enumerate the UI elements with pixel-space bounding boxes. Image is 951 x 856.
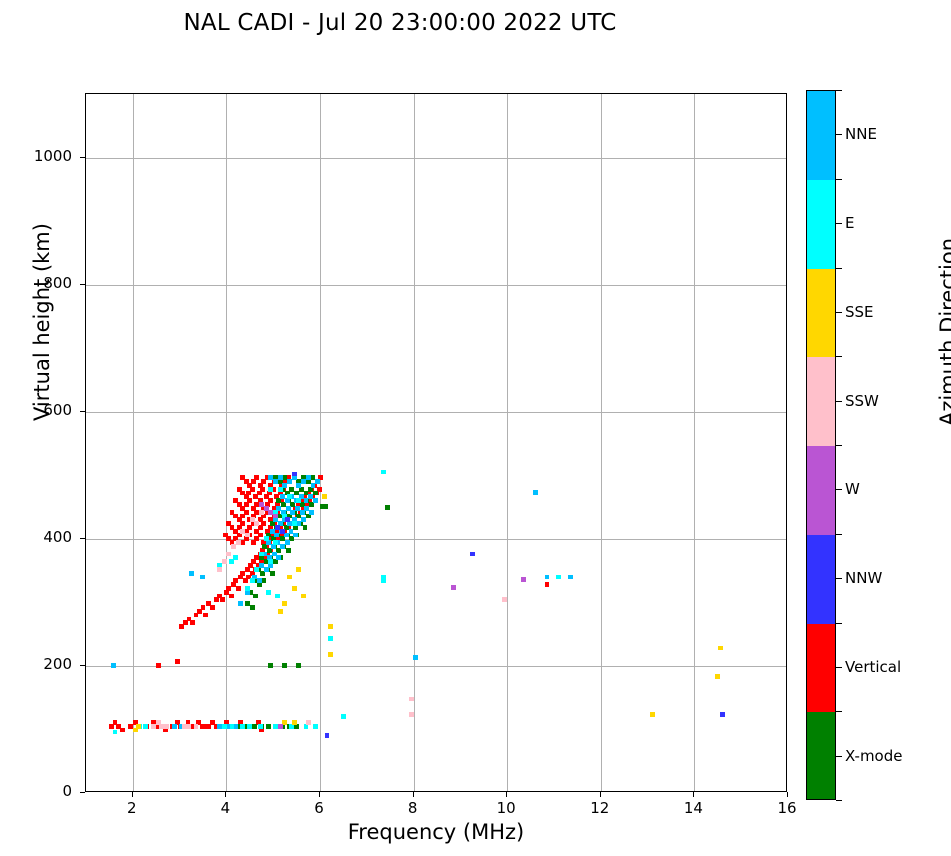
echo-mark xyxy=(278,724,283,729)
gridline-vertical xyxy=(507,94,508,791)
y-tick xyxy=(80,157,85,158)
echo-mark xyxy=(247,498,252,503)
echo-mark xyxy=(266,590,271,595)
echo-mark xyxy=(136,724,141,729)
echo-mark xyxy=(264,536,269,541)
echo-mark xyxy=(409,712,414,717)
echo-mark xyxy=(313,498,318,503)
echo-mark xyxy=(250,487,255,492)
echo-mark xyxy=(285,540,290,545)
echo-mark xyxy=(244,510,249,515)
echo-mark xyxy=(194,724,199,729)
gridline-horizontal xyxy=(86,539,786,540)
colorbar-boundary-tick xyxy=(836,179,842,180)
echo-mark xyxy=(247,724,252,729)
plot-area xyxy=(85,93,787,792)
echo-mark xyxy=(325,733,330,738)
echo-mark xyxy=(303,525,308,530)
x-tick xyxy=(413,792,414,797)
echo-mark xyxy=(278,487,283,492)
echo-mark xyxy=(309,510,314,515)
echo-mark xyxy=(245,586,250,591)
azimuth-colorbar xyxy=(806,90,836,800)
colorbar-segment-w xyxy=(807,446,835,535)
colorbar-label-x-mode: X-mode xyxy=(845,747,902,765)
echo-mark xyxy=(200,575,205,580)
echo-mark xyxy=(245,533,250,538)
echo-mark xyxy=(306,720,311,725)
colorbar-segment-sse xyxy=(807,269,835,358)
colorbar-boundary-tick xyxy=(836,356,842,357)
echo-mark xyxy=(254,475,259,480)
echo-mark xyxy=(280,529,285,534)
y-tick xyxy=(80,665,85,666)
echo-mark xyxy=(306,475,311,480)
echo-mark xyxy=(240,724,245,729)
echo-mark xyxy=(189,571,194,576)
colorbar-segment-x-mode xyxy=(807,712,835,800)
gridline-horizontal xyxy=(86,158,786,159)
echo-mark xyxy=(293,533,298,538)
colorbar-label-nnw: NNW xyxy=(845,569,882,587)
echo-mark xyxy=(172,724,177,729)
y-tick xyxy=(80,284,85,285)
echo-mark xyxy=(409,697,414,702)
colorbar-axis-label: Azimuth Direction xyxy=(936,212,951,452)
x-tick-label: 6 xyxy=(299,799,339,817)
colorbar-tick xyxy=(836,578,842,579)
x-tick-label: 16 xyxy=(767,799,807,817)
colorbar-boundary-tick xyxy=(836,445,842,446)
echo-mark xyxy=(250,578,255,583)
echo-mark xyxy=(282,601,287,606)
x-axis-label: Frequency (MHz) xyxy=(85,820,787,844)
gridline-vertical xyxy=(414,94,415,791)
colorbar-tick xyxy=(836,401,842,402)
echo-mark xyxy=(381,578,386,583)
x-tick xyxy=(132,792,133,797)
gridline-horizontal xyxy=(86,412,786,413)
x-tick xyxy=(600,792,601,797)
gridline-vertical xyxy=(601,94,602,791)
colorbar-boundary-tick xyxy=(836,711,842,712)
echo-mark xyxy=(273,514,278,519)
colorbar-boundary-tick xyxy=(836,534,842,535)
echo-mark xyxy=(229,594,234,599)
y-tick-label: 0 xyxy=(0,782,72,800)
echo-mark xyxy=(385,505,390,510)
echo-mark xyxy=(287,494,292,499)
echo-mark xyxy=(268,559,273,564)
ionogram-figure: NAL CADI - Jul 20 23:00:00 2022 UTC 2468… xyxy=(0,0,951,856)
colorbar-label-nne: NNE xyxy=(845,125,877,143)
echo-mark xyxy=(217,567,222,572)
echo-mark xyxy=(718,646,723,651)
gridline-vertical xyxy=(133,94,134,791)
x-tick xyxy=(319,792,320,797)
echo-mark xyxy=(240,521,245,526)
echo-mark xyxy=(545,582,550,587)
echo-mark xyxy=(120,728,125,733)
y-tick xyxy=(80,792,85,793)
echo-mark xyxy=(230,724,235,729)
echo-mark xyxy=(650,712,655,717)
colorbar-label-sse: SSE xyxy=(845,303,874,321)
colorbar-segment-e xyxy=(807,180,835,269)
echo-mark xyxy=(568,575,573,580)
echo-mark xyxy=(231,544,236,549)
gridline-horizontal xyxy=(86,285,786,286)
echo-mark xyxy=(322,494,327,499)
echo-mark xyxy=(328,636,333,641)
echo-mark xyxy=(253,594,258,599)
echo-mark xyxy=(282,720,287,725)
colorbar-label-vertical: Vertical xyxy=(845,658,901,676)
echo-mark xyxy=(222,724,227,729)
echo-mark xyxy=(226,552,231,557)
echo-mark xyxy=(164,724,169,729)
x-tick-label: 8 xyxy=(393,799,433,817)
echo-mark xyxy=(222,559,227,564)
gridline-vertical xyxy=(226,94,227,791)
echo-mark xyxy=(296,567,301,572)
page-title: NAL CADI - Jul 20 23:00:00 2022 UTC xyxy=(0,10,800,36)
x-tick-label: 10 xyxy=(486,799,526,817)
colorbar-tick xyxy=(836,667,842,668)
y-tick xyxy=(80,538,85,539)
echo-mark xyxy=(113,730,118,735)
echo-mark xyxy=(203,613,208,618)
echo-mark xyxy=(261,578,266,583)
echo-mark xyxy=(278,609,283,614)
gridline-vertical xyxy=(320,94,321,791)
echo-mark xyxy=(261,521,266,526)
echo-mark xyxy=(296,663,301,668)
echo-mark xyxy=(260,487,265,492)
x-tick-label: 4 xyxy=(205,799,245,817)
echo-mark xyxy=(451,585,456,590)
echo-mark xyxy=(556,575,561,580)
echo-mark xyxy=(250,605,255,610)
echo-mark xyxy=(282,663,287,668)
echo-mark xyxy=(270,571,275,576)
echo-mark xyxy=(286,548,291,553)
x-tick xyxy=(787,792,788,797)
colorbar-segment-nnw xyxy=(807,535,835,624)
echo-mark xyxy=(201,605,206,610)
echo-mark xyxy=(470,552,475,557)
colorbar-tick xyxy=(836,756,842,757)
echo-mark xyxy=(285,517,290,522)
echo-mark xyxy=(268,663,273,668)
echo-mark xyxy=(323,504,328,509)
echo-mark xyxy=(275,594,280,599)
echo-mark xyxy=(273,540,278,545)
echo-mark xyxy=(254,567,259,572)
gridline-horizontal xyxy=(86,666,786,667)
echo-mark xyxy=(276,555,281,560)
colorbar-tick xyxy=(836,134,842,135)
echo-mark xyxy=(413,655,418,660)
echo-mark xyxy=(715,674,720,679)
echo-mark xyxy=(292,521,297,526)
echo-mark xyxy=(313,724,318,729)
colorbar-label-e: E xyxy=(845,214,854,232)
x-tick-label: 2 xyxy=(112,799,152,817)
colorbar-segment-ssw xyxy=(807,357,835,446)
echo-mark xyxy=(292,720,297,725)
echo-mark xyxy=(156,663,161,668)
echo-mark xyxy=(533,490,538,495)
echo-mark xyxy=(236,586,241,591)
y-tick xyxy=(80,411,85,412)
echo-mark xyxy=(258,724,263,729)
colorbar-boundary-tick xyxy=(836,90,842,91)
y-axis-label: Virtual height (km) xyxy=(30,182,54,462)
echo-mark xyxy=(259,552,264,557)
x-tick xyxy=(506,792,507,797)
y-tick-label: 400 xyxy=(0,528,72,546)
echo-mark xyxy=(210,605,215,610)
echo-mark xyxy=(233,555,238,560)
echo-mark xyxy=(502,597,507,602)
x-tick-label: 12 xyxy=(580,799,620,817)
echo-mark xyxy=(175,659,180,664)
colorbar-segment-nne xyxy=(807,91,835,180)
colorbar-label-ssw: SSW xyxy=(845,392,879,410)
echo-mark xyxy=(143,724,148,729)
echo-mark xyxy=(720,712,725,717)
echo-mark xyxy=(287,575,292,580)
colorbar-boundary-tick xyxy=(836,623,842,624)
colorbar-label-w: W xyxy=(845,480,860,498)
x-tick xyxy=(225,792,226,797)
echo-mark xyxy=(268,498,273,503)
echo-mark xyxy=(190,620,195,625)
echo-mark xyxy=(292,586,297,591)
echo-mark xyxy=(111,663,116,668)
echo-mark xyxy=(313,491,318,496)
echo-mark xyxy=(229,559,234,564)
echo-mark xyxy=(381,470,386,475)
echo-mark xyxy=(257,578,262,583)
y-tick-label: 1000 xyxy=(0,147,72,165)
echo-mark xyxy=(254,521,259,526)
colorbar-boundary-tick xyxy=(836,800,842,801)
echo-mark xyxy=(266,724,271,729)
colorbar-boundary-tick xyxy=(836,268,842,269)
echo-mark xyxy=(278,475,283,480)
colorbar-tick xyxy=(836,223,842,224)
gridline-vertical xyxy=(694,94,695,791)
echo-mark xyxy=(301,594,306,599)
echo-mark xyxy=(268,487,273,492)
echo-mark xyxy=(187,724,192,729)
x-tick xyxy=(693,792,694,797)
echo-mark xyxy=(341,714,346,719)
echo-mark xyxy=(258,533,263,538)
echo-mark xyxy=(296,498,301,503)
echo-mark xyxy=(236,540,241,545)
echo-mark xyxy=(328,624,333,629)
echo-mark xyxy=(220,597,225,602)
colorbar-tick xyxy=(836,489,842,490)
echo-mark xyxy=(315,479,320,484)
y-tick-label: 200 xyxy=(0,655,72,673)
echo-mark xyxy=(328,652,333,657)
x-tick-label: 14 xyxy=(673,799,713,817)
echo-mark xyxy=(301,517,306,522)
colorbar-segment-vertical xyxy=(807,624,835,713)
echo-mark xyxy=(545,575,550,580)
echo-mark xyxy=(238,601,243,606)
echo-mark xyxy=(252,724,257,729)
colorbar-tick xyxy=(836,312,842,313)
echo-mark xyxy=(292,472,297,477)
echo-mark xyxy=(521,577,526,582)
